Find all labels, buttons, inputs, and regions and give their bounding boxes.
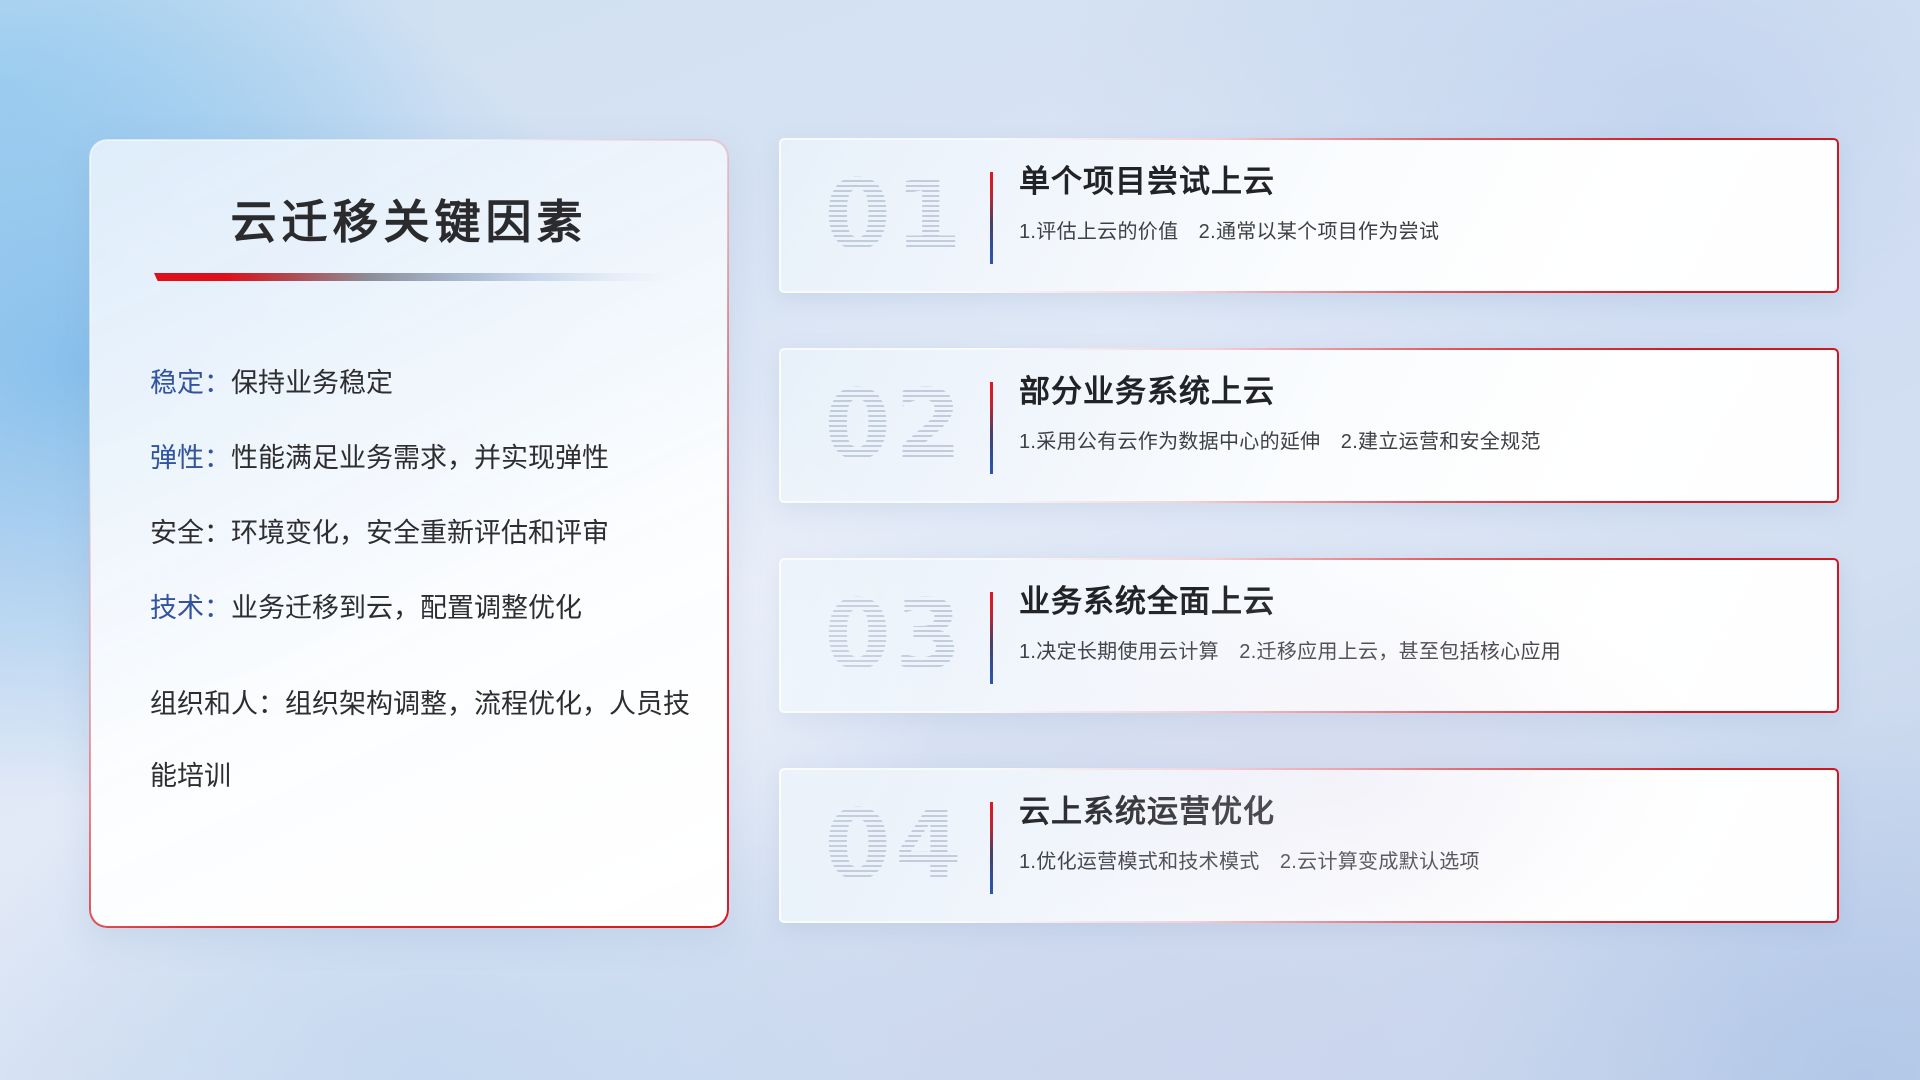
stage-card[interactable]: 02部分业务系统上云1.采用公有云作为数据中心的延伸 2.建立运营和安全规范 <box>779 348 1839 503</box>
stage-heading: 云上系统运营优化 <box>1019 790 1815 834</box>
stage-card-list: 01单个项目尝试上云1.评估上云的价值 2.通常以某个项目作为尝试02部分业务系… <box>779 138 1839 923</box>
stage-number: 04 <box>805 780 985 910</box>
slide-canvas: 云迁移关键因素 稳定：保持业务稳定弹性：性能满足业务需求，并实现弹性安全：环境变… <box>0 0 1920 1080</box>
stage-divider-bar <box>990 802 993 894</box>
stage-card[interactable]: 01单个项目尝试上云1.评估上云的价值 2.通常以某个项目作为尝试 <box>779 138 1839 293</box>
stage-divider-bar <box>990 172 993 264</box>
stage-number: 02 <box>805 360 985 490</box>
stage-text-block: 部分业务系统上云1.采用公有云作为数据中心的延伸 2.建立运营和安全规范 <box>1019 370 1815 456</box>
factor-body: 保持业务稳定 <box>231 368 393 398</box>
factor-label: 技术： <box>150 593 231 623</box>
stage-description: 1.优化运营模式和技术模式 2.云计算变成默认选项 <box>1019 848 1815 876</box>
factor-list: 稳定：保持业务稳定弹性：性能满足业务需求，并实现弹性安全：环境变化，安全重新评估… <box>150 368 698 812</box>
title-underline-rule <box>154 273 670 281</box>
stage-number: 01 <box>805 150 985 280</box>
stage-number: 03 <box>805 570 985 700</box>
stage-card[interactable]: 04云上系统运营优化1.优化运营模式和技术模式 2.云计算变成默认选项 <box>779 768 1839 923</box>
factor-label: 组织和人： <box>150 689 285 719</box>
factor-row: 稳定：保持业务稳定 <box>150 368 698 399</box>
stage-divider-bar <box>990 382 993 474</box>
factor-row: 弹性：性能满足业务需求，并实现弹性 <box>150 443 698 474</box>
factor-body: 业务迁移到云，配置调整优化 <box>231 593 582 623</box>
stage-description: 1.决定长期使用云计算 2.迁移应用上云，甚至包括核心应用 <box>1019 638 1815 666</box>
stage-description: 1.采用公有云作为数据中心的延伸 2.建立运营和安全规范 <box>1019 428 1815 456</box>
factor-body: 环境变化，安全重新评估和评审 <box>231 518 609 548</box>
stage-text-block: 云上系统运营优化1.优化运营模式和技术模式 2.云计算变成默认选项 <box>1019 790 1815 876</box>
factor-row: 安全：环境变化，安全重新评估和评审 <box>150 518 698 549</box>
factor-label: 稳定： <box>150 368 231 398</box>
factor-body: 性能满足业务需求，并实现弹性 <box>231 443 609 473</box>
stage-heading: 单个项目尝试上云 <box>1019 160 1815 204</box>
stage-heading: 部分业务系统上云 <box>1019 370 1815 414</box>
stage-card[interactable]: 03业务系统全面上云1.决定长期使用云计算 2.迁移应用上云，甚至包括核心应用 <box>779 558 1839 713</box>
stage-heading: 业务系统全面上云 <box>1019 580 1815 624</box>
factor-row: 技术：业务迁移到云，配置调整优化 <box>150 593 698 624</box>
factor-label: 弹性： <box>150 443 231 473</box>
key-factors-panel: 云迁移关键因素 稳定：保持业务稳定弹性：性能满足业务需求，并实现弹性安全：环境变… <box>89 139 729 928</box>
stage-divider-bar <box>990 592 993 684</box>
factor-label: 安全： <box>150 518 231 548</box>
stage-description: 1.评估上云的价值 2.通常以某个项目作为尝试 <box>1019 218 1815 246</box>
stage-text-block: 单个项目尝试上云1.评估上云的价值 2.通常以某个项目作为尝试 <box>1019 160 1815 246</box>
stage-text-block: 业务系统全面上云1.决定长期使用云计算 2.迁移应用上云，甚至包括核心应用 <box>1019 580 1815 666</box>
page-title: 云迁移关键因素 <box>90 186 728 252</box>
factor-row: 组织和人：组织架构调整，流程优化，人员技能培训 <box>150 668 698 812</box>
